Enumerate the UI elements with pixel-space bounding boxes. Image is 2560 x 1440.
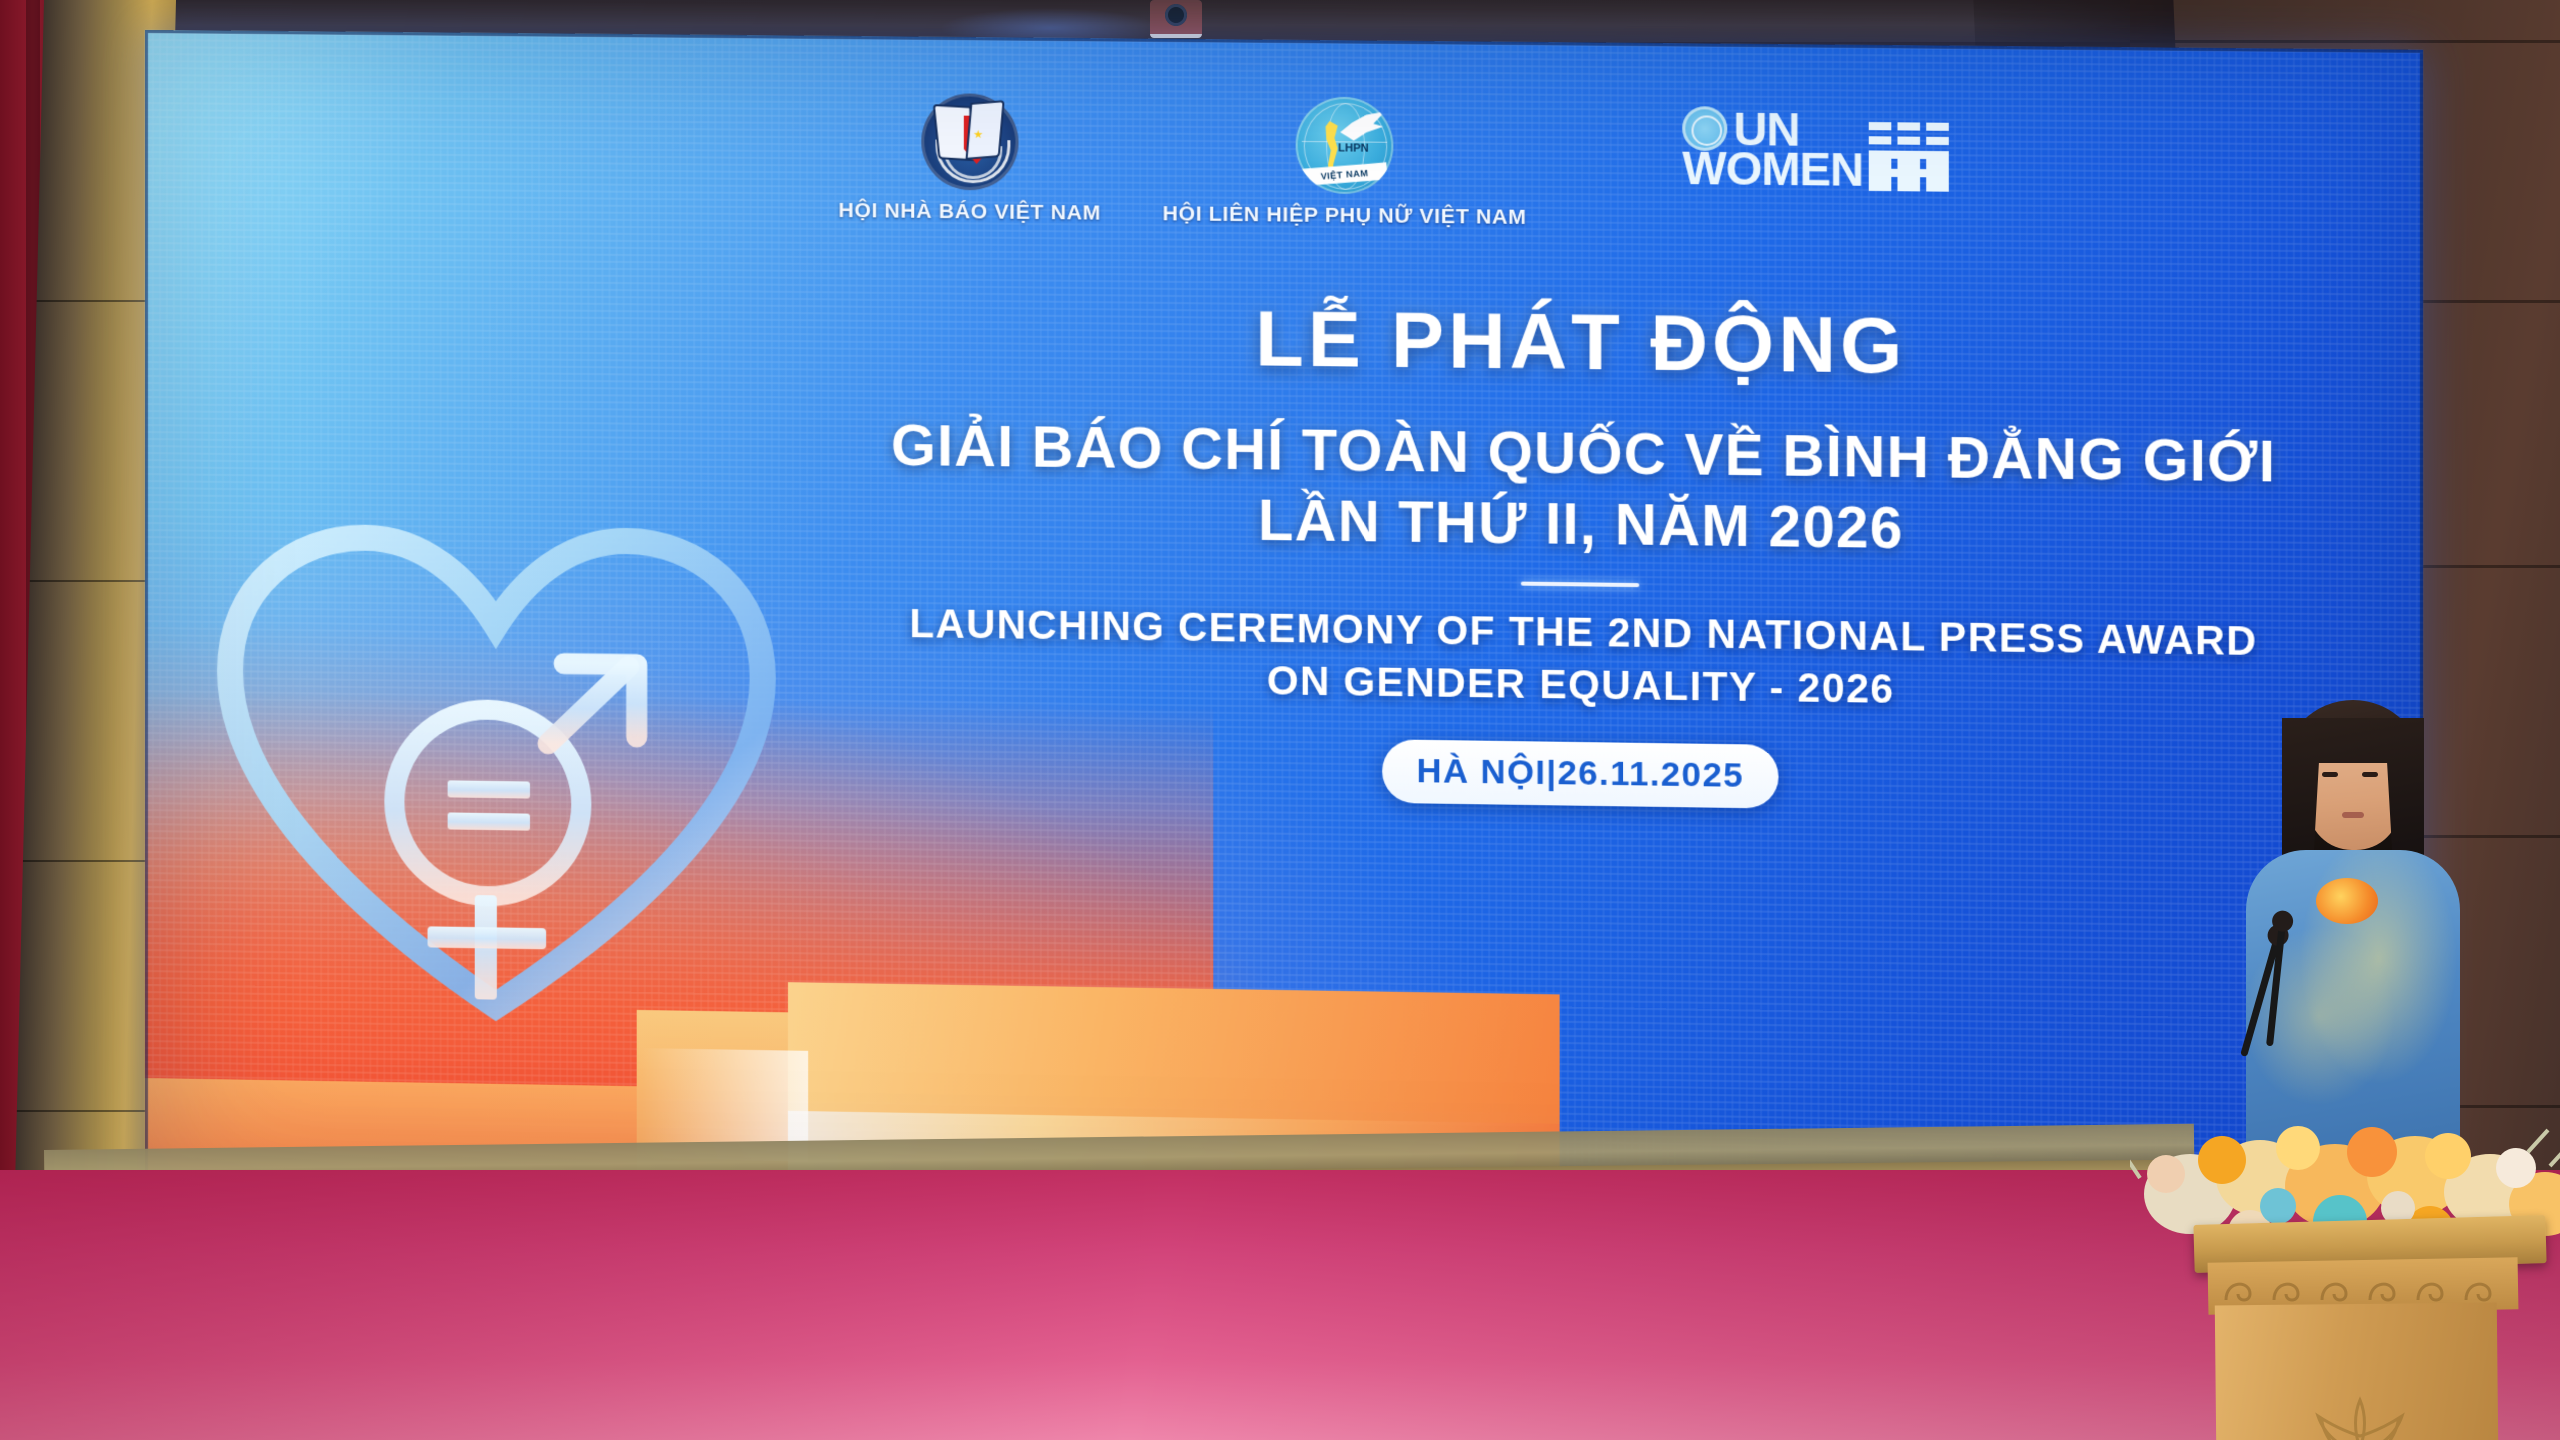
podium-area xyxy=(2190,700,2550,1440)
conference-hall-scene: HỘI NHÀ BÁO VIỆT NAM LHPN VIỆT NAM HỘI L… xyxy=(0,0,2560,1440)
speaker-corsage xyxy=(2316,878,2378,924)
screen-vignette xyxy=(145,30,2423,1250)
speaker-eye-left xyxy=(2322,772,2338,777)
speaker-eye-right xyxy=(2362,772,2378,777)
ceiling-camera-icon xyxy=(1150,0,1202,38)
speaker-mouth xyxy=(2342,812,2364,818)
lotus-carving-icon xyxy=(2300,1390,2420,1440)
led-presentation-screen: HỘI NHÀ BÁO VIỆT NAM LHPN VIỆT NAM HỘI L… xyxy=(145,30,2423,1250)
